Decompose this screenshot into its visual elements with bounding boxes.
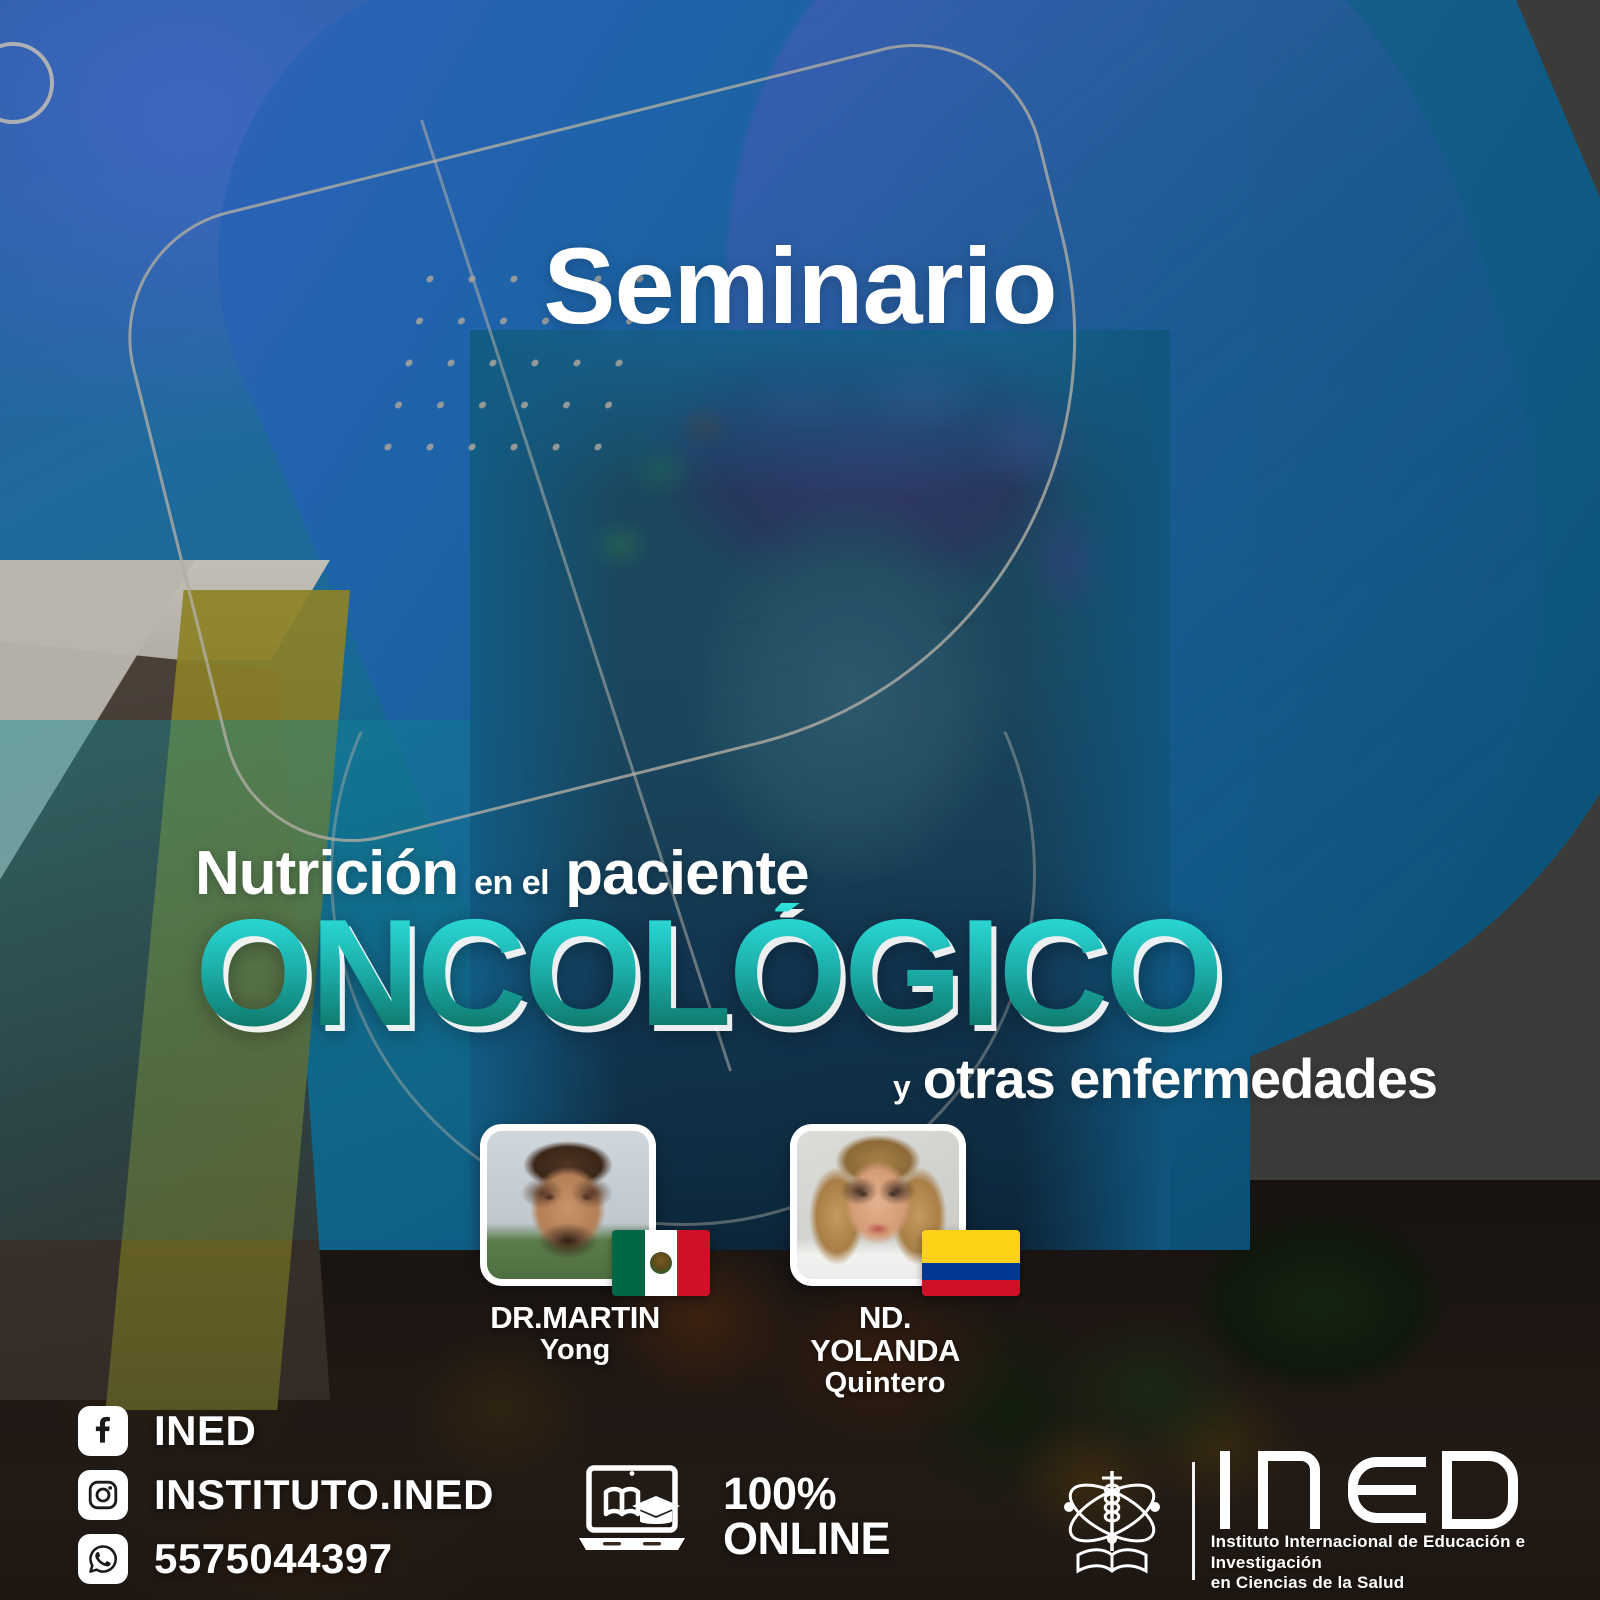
social-handle-instagram: INSTITUTO.INED [154, 1471, 494, 1519]
speaker-name-martin: DR.MARTIN Yong [480, 1302, 670, 1366]
title-word-y: y [893, 1069, 911, 1106]
speaker-card-yolanda: ND. YOLANDA Quintero [790, 1124, 980, 1384]
logo-tagline-line-1: Instituto Internacional de Educación e I… [1211, 1532, 1526, 1572]
logo-tagline: Instituto Internacional de Educación e I… [1211, 1532, 1526, 1592]
facebook-icon[interactable] [78, 1406, 128, 1456]
instagram-icon[interactable] [78, 1470, 128, 1520]
speaker-name-line-2: Quintero [790, 1368, 980, 1399]
online-badge-label: ONLINE [723, 1513, 890, 1564]
social-handle-facebook: INED [154, 1407, 256, 1455]
promotional-poster: Seminario Nutrición en el paciente ONCOL… [0, 0, 1600, 1600]
eyebrow-seminario: Seminario [0, 232, 1600, 340]
speaker-name-line-1: ND. YOLANDA [790, 1302, 980, 1368]
speaker-photo-frame [480, 1124, 656, 1286]
speaker-name-yolanda: ND. YOLANDA Quintero [790, 1302, 980, 1398]
caduceus-atom-book-icon [1048, 1455, 1176, 1588]
speaker-name-line-2: Yong [480, 1335, 670, 1366]
online-badge-text: 100% ONLINE [723, 1471, 890, 1561]
speakers-row: DR.MARTIN Yong ND. YOLANDA Quintero [480, 1124, 1100, 1384]
social-row-facebook[interactable]: INED [78, 1406, 494, 1456]
whatsapp-icon[interactable] [78, 1534, 128, 1584]
laptop-book-graduation-icon [575, 1458, 705, 1573]
online-badge-percent: 100% [723, 1468, 836, 1519]
mexico-eagle-emblem [650, 1252, 672, 1274]
ined-logo: Instituto Internacional de Educación e I… [1048, 1448, 1600, 1594]
speaker-name-line-1: DR.MARTIN [480, 1302, 670, 1335]
logo-wordmark-ined [1211, 1448, 1600, 1532]
social-handle-whatsapp: 5575044397 [154, 1535, 393, 1583]
speaker-photo-frame [790, 1124, 966, 1286]
speaker-card-martin: DR.MARTIN Yong [480, 1124, 670, 1384]
title-block: Nutrición en el paciente ONCOLÓGICO y ot… [195, 838, 1455, 1111]
social-row-whatsapp[interactable]: 5575044397 [78, 1534, 494, 1584]
flag-colombia-icon [922, 1230, 1020, 1296]
flag-mexico-icon [612, 1230, 710, 1296]
online-badge: 100% ONLINE [575, 1458, 890, 1573]
title-word-oncologico: ONCOLÓGICO [195, 903, 1455, 1044]
logo-divider [1192, 1462, 1195, 1580]
logo-text-block: Instituto Internacional de Educación e I… [1211, 1448, 1600, 1594]
social-links: INED INSTITUTO.INED 5575044397 [78, 1406, 494, 1598]
social-row-instagram[interactable]: INSTITUTO.INED [78, 1470, 494, 1520]
logo-tagline-line-2: en Ciencias de la Salud [1211, 1573, 1405, 1592]
